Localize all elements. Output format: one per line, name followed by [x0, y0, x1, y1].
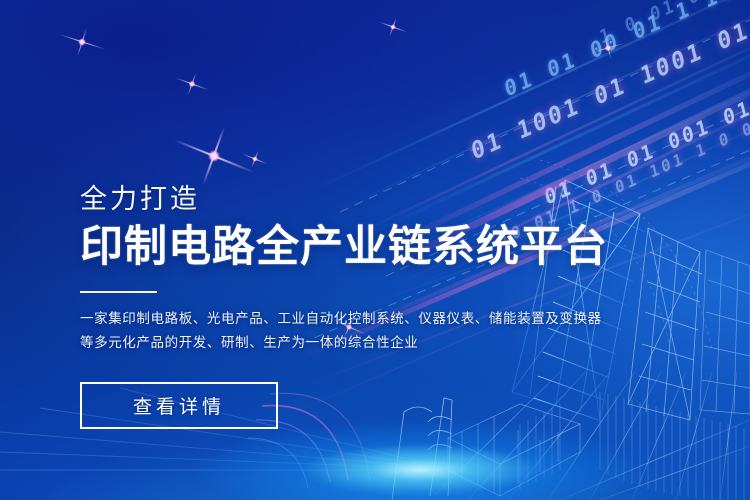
sparkle-star-6 — [238, 142, 272, 176]
sparkle-star-4 — [374, 8, 412, 46]
hero-divider — [80, 291, 157, 293]
hero-text-block: 全力打造 印制电路全产业链系统平台 一家集印制电路板、光电产品、工业自动化控制系… — [80, 186, 640, 429]
binary-stream-1: 01 01 00 01 1 1001 101 1001 01 — [502, 0, 750, 102]
hero-eyebrow: 全力打造 — [80, 186, 640, 213]
hero-description-line-1: 一家集印制电路板、光电产品、工业自动化控制系统、仪器仪表、储能装置及变换器 — [80, 307, 640, 331]
binary-stream-2: 01 1001 01 1001 01 0011 01 101 — [469, 0, 750, 166]
hero-description: 一家集印制电路板、光电产品、工业自动化控制系统、仪器仪表、储能装置及变换器 等多… — [80, 307, 640, 355]
sparkle-star-3 — [170, 62, 214, 106]
binary-stream-4: 1 0 01 01 1001 01 1 01 0011 — [597, 0, 750, 49]
sparkle-star-5 — [588, 28, 628, 68]
view-details-button[interactable]: 查看详情 — [80, 382, 278, 429]
sparkle-star-1 — [52, 12, 112, 72]
binary-stream-3: 01 01 01 001 01 01 0 1 1001 01 — [542, 3, 750, 210]
hero-banner: 01 01 00 01 1 1001 101 1001 01 01 1001 0… — [0, 0, 750, 500]
hero-title: 印制电路全产业链系统平台 — [80, 225, 640, 270]
hero-description-line-2: 等多元化产品的开发、研制、生产为一体的综合性企业 — [80, 331, 640, 355]
